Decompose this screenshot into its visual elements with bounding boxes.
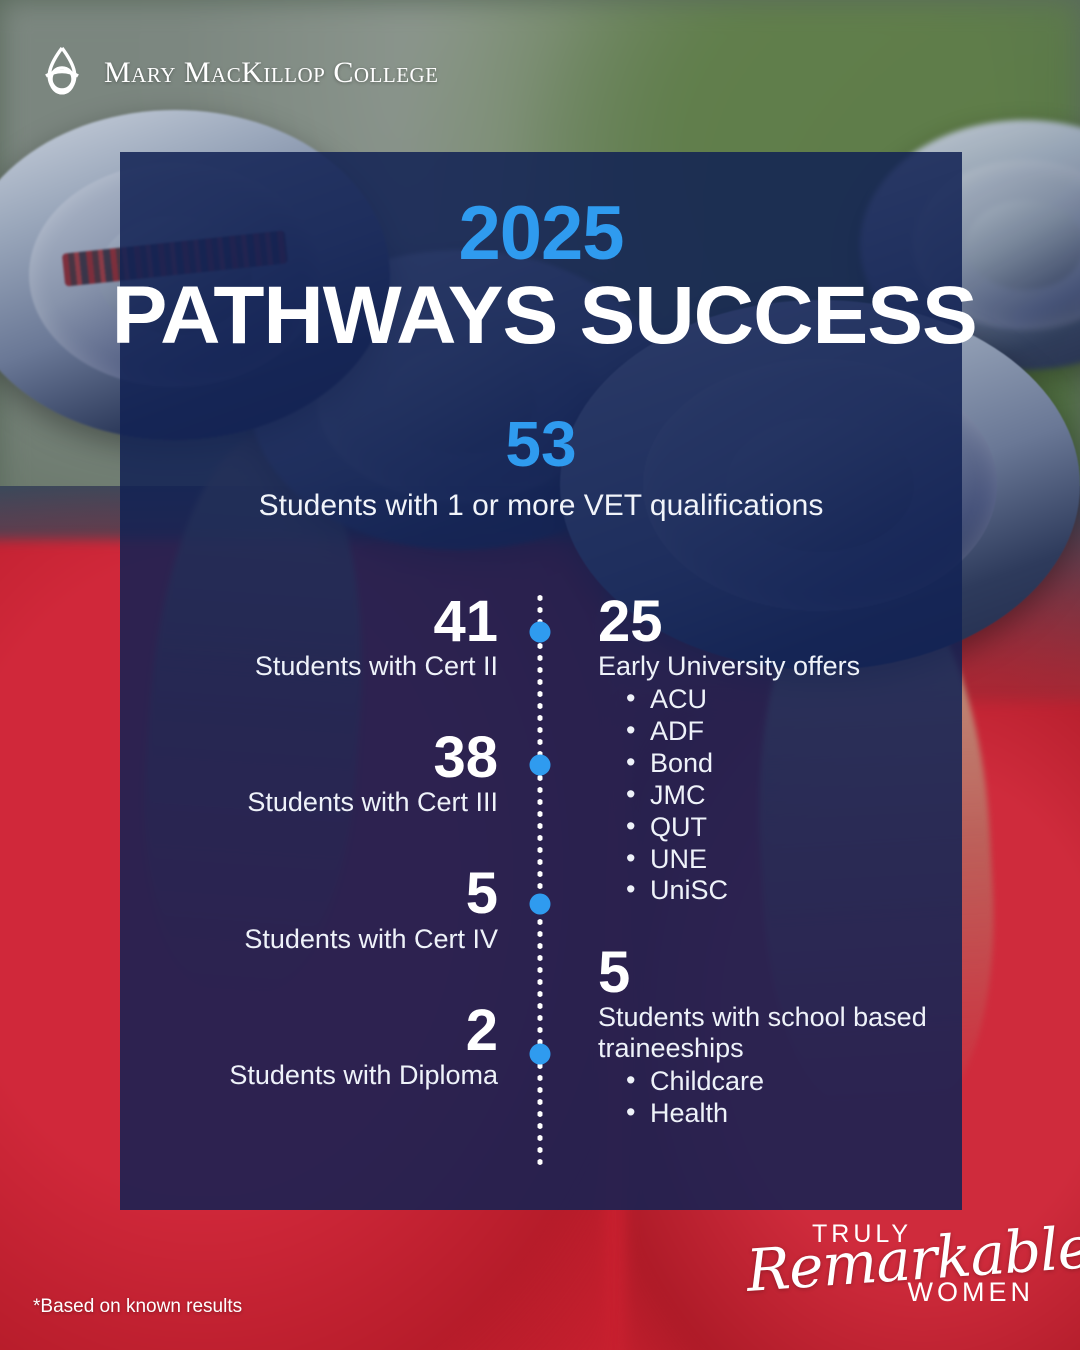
timeline-node-2 [530, 755, 551, 776]
traineeships-list: Childcare Health [598, 1066, 950, 1130]
stat-label: Students with Cert II [150, 651, 498, 682]
timeline-node-3 [530, 894, 551, 915]
title-year: 2025 [120, 196, 962, 272]
stat-diploma: 2 Students with Diploma [150, 1001, 498, 1091]
stat-traineeships: 5 Students with school based traineeship… [598, 943, 950, 1130]
stat-university-offers: 25 Early University offers ACU ADF Bond … [598, 592, 950, 907]
stat-value: 5 [150, 864, 498, 923]
stat-value: 41 [150, 592, 498, 651]
list-item: Health [598, 1098, 950, 1130]
university-offers-list: ACU ADF Bond JMC QUT UNE UniSC [598, 684, 950, 907]
stat-cert-iii: 38 Students with Cert III [150, 728, 498, 818]
list-item: ACU [598, 684, 950, 716]
timeline-node-4 [530, 1044, 551, 1065]
timeline-node-1 [530, 622, 551, 643]
list-item: Bond [598, 748, 950, 780]
hero-stat-value: 53 [120, 412, 962, 476]
left-stat-column: 41 Students with Cert II 38 Students wit… [150, 592, 498, 1091]
stat-label: Students with Cert IV [150, 924, 498, 955]
stat-label: Students with Cert III [150, 787, 498, 818]
list-item: UniSC [598, 875, 950, 907]
list-item: UNE [598, 844, 950, 876]
tagline-bottom: WOMEN [908, 1277, 1034, 1308]
stat-cert-ii: 41 Students with Cert II [150, 592, 498, 682]
list-item: QUT [598, 812, 950, 844]
stat-label: Students with school based traineeships [598, 1002, 950, 1064]
stat-value: 38 [150, 728, 498, 787]
infographic-poster: Mary MacKillop College 2025 PATHWAYS SUC… [0, 0, 1080, 1350]
stat-value: 25 [598, 592, 950, 651]
stat-value: 5 [598, 943, 950, 1002]
stat-value: 2 [150, 1001, 498, 1060]
tagline-lockup: TRULY Remarkable WOMEN [746, 1218, 1036, 1314]
hero-stat: 53 Students with 1 or more VET qualifica… [120, 412, 962, 524]
list-item: Childcare [598, 1066, 950, 1098]
hero-stat-label: Students with 1 or more VET qualificatio… [120, 488, 962, 524]
triquetra-icon [34, 42, 90, 104]
stat-label: Early University offers [598, 651, 950, 682]
timeline-rail [538, 592, 543, 1170]
school-logo: Mary MacKillop College [34, 42, 439, 104]
dotted-timeline-divider [534, 592, 546, 1170]
title-block: 2025 PATHWAYS SUCCESS [120, 196, 962, 361]
stat-label: Students with Diploma [150, 1060, 498, 1091]
footnote: *Based on known results [33, 1296, 242, 1318]
stat-cert-iv: 5 Students with Cert IV [150, 864, 498, 954]
right-stat-column: 25 Early University offers ACU ADF Bond … [598, 592, 950, 1130]
school-name: Mary MacKillop College [104, 56, 439, 90]
list-item: ADF [598, 716, 950, 748]
title-headline: PATHWAYS SUCCESS [112, 272, 971, 361]
list-item: JMC [598, 780, 950, 812]
